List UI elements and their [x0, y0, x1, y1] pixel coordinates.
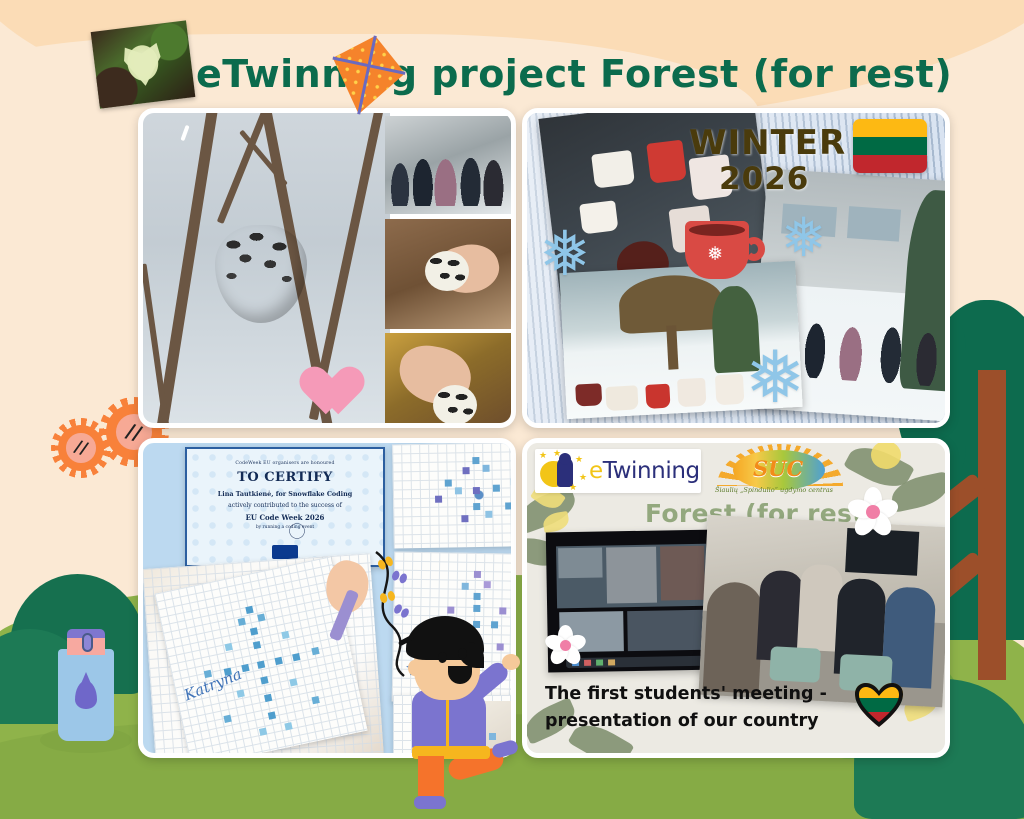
suc-logo: SUC Šiaulių „Spindulio“ ugdymo centras [709, 444, 855, 498]
mug [575, 383, 602, 406]
pixel [250, 627, 258, 635]
pixel [435, 496, 442, 503]
sun-decoration [871, 441, 901, 469]
pixel [484, 581, 491, 588]
star-icon: ★ [579, 473, 587, 483]
flag-stripe-red [853, 155, 927, 173]
pixel [473, 593, 480, 600]
etwinning-logo: ★ ★ ★ ★ ★ eTwinning [535, 449, 701, 493]
bird-feeder-collage-panel [138, 108, 516, 428]
suc-wordmark: SUC [753, 456, 803, 481]
certificate-line-4: EU Code Week 2026 [187, 513, 383, 522]
pixel [238, 618, 246, 626]
pixel [284, 722, 292, 730]
photo-students-in-snow [385, 116, 511, 214]
pixel [289, 678, 297, 686]
eu-code-week-certificate: CodeWeek EU organisers are honoured TO C… [185, 447, 385, 567]
pixel [245, 606, 253, 614]
flag-stripe-yellow [853, 119, 927, 137]
photo-pinecone-feeder [143, 113, 390, 423]
meeting-caption: The first students' meeting - presentati… [545, 681, 875, 735]
first-meeting-panel: ★ ★ ★ ★ ★ eTwinning SUC Šiaulių „Spindul… [522, 438, 950, 758]
heart-shaped-leaf-photo [91, 20, 196, 108]
student-silhouettes [385, 150, 511, 206]
gazebo-pole [666, 325, 678, 369]
hot-cocoa-mug-icon: ❅ [685, 221, 763, 283]
certificate-line-0: CodeWeek EU organisers are honoured [187, 461, 383, 466]
taskbar-icon [596, 660, 603, 666]
pixel [257, 613, 265, 621]
pixel [493, 485, 500, 492]
pixel [259, 728, 267, 736]
pixel [485, 511, 492, 518]
pixel [473, 503, 480, 510]
taskbar-icon [608, 659, 615, 665]
pixel [511, 478, 516, 485]
boy-eye [438, 652, 447, 663]
winter-label-line1: WINTER [689, 123, 846, 163]
pixel [463, 467, 470, 474]
pixel [445, 479, 452, 486]
lithuania-heart-flag-icon [855, 683, 903, 727]
pixel [472, 457, 479, 464]
mug [715, 374, 745, 405]
pixel [225, 643, 233, 651]
snowflake-icon: ❅ [745, 341, 805, 413]
pixel [223, 715, 231, 723]
mug [677, 378, 706, 407]
snowflake-icon: ❅ [781, 211, 826, 265]
mug-drink-surface [689, 224, 745, 236]
pixel [264, 694, 272, 702]
chair [769, 646, 821, 683]
photo-hands-making-feeder [385, 219, 511, 329]
pixel [281, 631, 289, 639]
certificate-line-1: TO CERTIFY [187, 470, 383, 485]
pixel [311, 647, 319, 655]
mug [605, 385, 638, 411]
feeder-ball [425, 251, 469, 291]
pink-heart-icon [291, 347, 345, 397]
winter-label-line2: 2026 [719, 161, 809, 197]
window [847, 206, 901, 242]
certificate-text: CodeWeek EU organisers are honoured TO C… [187, 461, 383, 530]
star-icon: ★ [575, 455, 583, 465]
certificate-line-2: Lina Tautkienė, for Snowflake Coding [187, 490, 383, 498]
flag-stripe-green [853, 137, 927, 155]
photo-classroom-students [698, 515, 950, 708]
pixel [461, 515, 468, 522]
etwinning-wordmark: eTwinning [589, 458, 700, 484]
gear-slash-label: // [72, 437, 90, 460]
boy-eye [458, 648, 467, 659]
certificate-signature [255, 523, 315, 539]
etwinning-e: e [589, 458, 603, 484]
pixel [473, 487, 480, 494]
lithuania-flag-icon [853, 119, 927, 173]
pinecone-seeds [215, 225, 307, 323]
daisy-flower-icon [847, 487, 899, 537]
boy-hand [502, 654, 520, 670]
caption-line-1: The first students' meeting - [545, 681, 875, 708]
pixel [462, 583, 469, 590]
flower-center [560, 640, 571, 651]
water-drop-icon [75, 681, 97, 709]
mug-snowflake-icon: ❅ [707, 245, 723, 264]
cup [646, 140, 687, 184]
winter-collage-panel: WINTER 2026 ❅ ❅ ❅ ❅ [522, 108, 950, 428]
heart-highlight [180, 125, 189, 141]
pinecone-bird-feeder [215, 225, 307, 323]
pixel [241, 664, 249, 672]
cup [591, 150, 635, 189]
daisy-flower-icon [545, 625, 587, 665]
pixel [505, 502, 512, 509]
boy-shoe [491, 739, 520, 760]
pixel [268, 711, 276, 719]
pixel [275, 657, 283, 665]
pixel [257, 661, 265, 669]
etwinning-twinning: Twinning [603, 458, 700, 484]
video-tile [606, 547, 657, 604]
poster-canvas: // // eTwinning project Forest (for rest… [0, 0, 1024, 819]
photo-hand-holding-feeder [385, 333, 511, 428]
eu-flag-icon [272, 545, 298, 559]
feeder-ball [433, 385, 477, 425]
etwinning-logo-mark: ★ ★ ★ ★ ★ [535, 451, 589, 491]
gear-icon-small: // [58, 425, 104, 471]
student [703, 581, 765, 694]
video-tile [660, 546, 705, 601]
certificate-line-3: actively contributed to the success of [187, 502, 383, 509]
photo-snowflake-grid-blue [392, 442, 516, 549]
flower-center [866, 505, 880, 519]
bottle-loop [82, 633, 93, 652]
tree-trunk [978, 370, 1006, 680]
photo-large-snowflake-drawing: Katryna [142, 553, 383, 758]
star-icon: ★ [553, 449, 561, 459]
pixel [237, 689, 245, 697]
snowflake-icon: ❅ [539, 223, 591, 285]
pixel [253, 641, 261, 649]
boy-shoe [414, 796, 446, 809]
page-title: eTwinning project Forest (for rest) [196, 52, 952, 96]
video-tile [558, 548, 603, 579]
pixel [482, 465, 489, 472]
pixel [312, 696, 320, 704]
pixel [260, 676, 268, 684]
suc-subtitle: Šiaulių „Spindulio“ ugdymo centras [715, 486, 833, 494]
mug [645, 384, 670, 409]
pixel [455, 487, 462, 494]
star-icon: ★ [539, 451, 547, 461]
pixel [292, 653, 300, 661]
boy-flying-kite-illustration [396, 608, 516, 798]
caption-line-2: presentation of our country [545, 708, 875, 735]
star-icon: ★ [569, 483, 577, 493]
water-bottle [58, 631, 114, 741]
boy-jacket-zipper [446, 694, 449, 748]
pixel [474, 571, 481, 578]
video-tile [627, 610, 706, 651]
branch [154, 113, 218, 423]
